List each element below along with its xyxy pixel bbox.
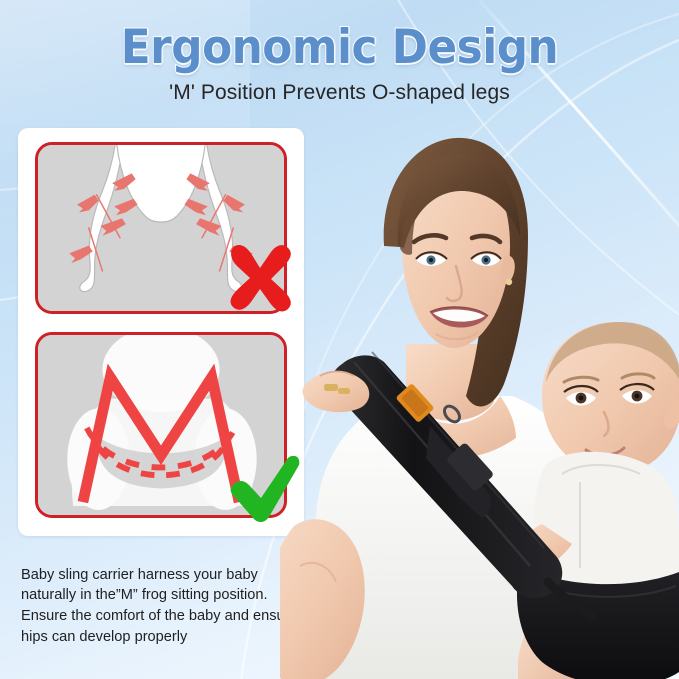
page-title: Ergonomic Design: [24, 0, 655, 75]
diagram-card: [18, 128, 304, 536]
mother-and-baby-photo: [280, 96, 679, 679]
caption-text: Baby sling carrier harness your baby nat…: [21, 565, 313, 648]
poster-canvas: Ergonomic Design 'M' Position Prevents O…: [0, 0, 679, 679]
header: Ergonomic Design 'M' Position Prevents O…: [0, 0, 679, 105]
o-shaped-legs-panel: [35, 142, 287, 314]
m-position-panel: [35, 332, 287, 518]
